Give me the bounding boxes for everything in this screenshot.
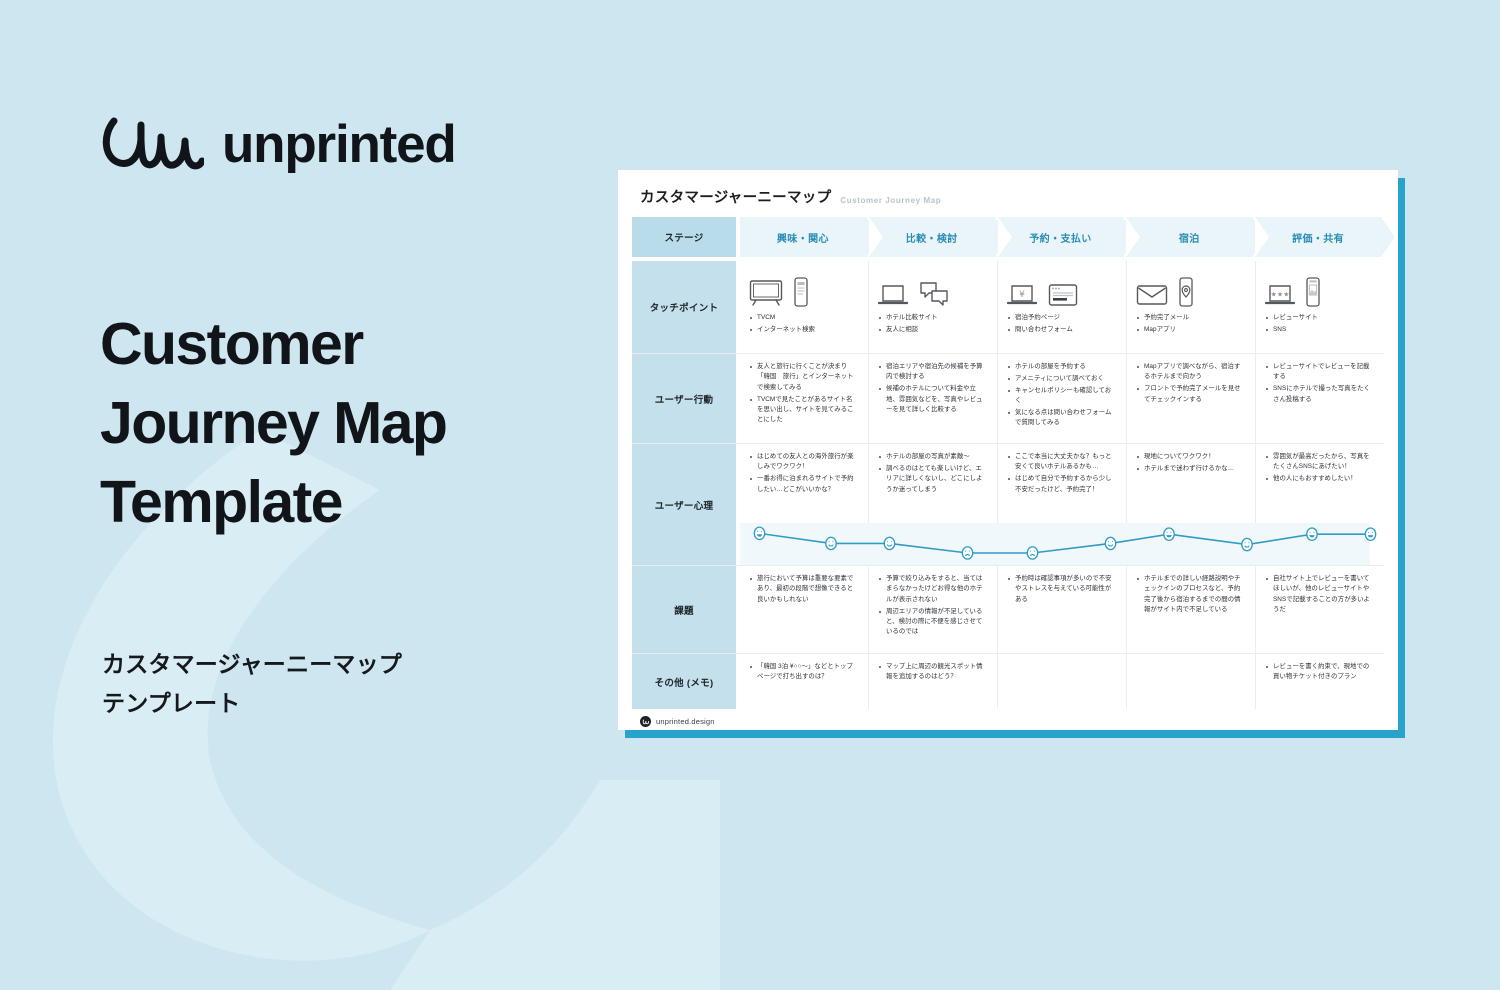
- stage-label: 予約・支払い: [1029, 230, 1091, 245]
- list-item: 気になる点は問い合わせフォームで質問してみる: [1007, 408, 1117, 429]
- issue-cell-1[interactable]: 旅行において予算は重要な要素であり、最初の段階で想像できると良いかもしれない: [740, 566, 869, 653]
- emotion-face-neutral: [884, 537, 894, 549]
- memo-cells: 「韓国 3泊 ¥○○〜」などとトップページで打ち出すのは？ マップ上に周辺の観光…: [740, 654, 1384, 709]
- behavior-list: レビューサイトでレビューを記載する SNSにホテルで撮った写真をたくさん投稿する: [1265, 362, 1375, 405]
- list-item: 調べるのはとても楽しいけど、エリアに詳しくないし、どこにしようか迷ってしまう: [878, 464, 988, 495]
- svg-text:¥: ¥: [1019, 290, 1025, 300]
- list-item: 一番お得に泊まれるサイトで予約したい…どこがいいかな？: [749, 474, 859, 495]
- card-footer: unprinted.design: [632, 709, 1384, 727]
- psychology-list: ホテルの部屋の写真が素敵〜 調べるのはとても楽しいけど、エリアに詳しくないし、ど…: [878, 452, 988, 497]
- tv-icon: [749, 279, 783, 307]
- list-item: 「韓国 3泊 ¥○○〜」などとトップページで打ち出すのは？: [749, 662, 859, 683]
- touchpoint-row: タッチポイント: [632, 261, 1384, 353]
- touchpoint-cells: TVCM インターネット検索: [740, 261, 1384, 353]
- emotion-curve-chart: [740, 523, 1390, 565]
- list-item: 予約時は確認事項が多いので不安やストレスを与えている可能性がある: [1007, 574, 1117, 605]
- page-subtitle: カスタマージャーニーマップ テンプレート: [102, 645, 532, 722]
- unprinted-script-logo-icon: [100, 113, 204, 175]
- memo-cell-2[interactable]: マップ上に周辺の観光スポット情報を追加するのはどう？: [869, 654, 998, 709]
- laptop-yen-icon: ¥: [1007, 283, 1037, 307]
- issue-cell-3[interactable]: 予約時は確認事項が多いので不安やストレスを与えている可能性がある: [998, 566, 1127, 653]
- list-item: インターネット検索: [749, 325, 859, 335]
- stage-header-5[interactable]: 評価・共有: [1255, 217, 1381, 257]
- list-item: ホテル比較サイト: [878, 313, 988, 323]
- list-item: 問い合わせフォーム: [1007, 325, 1117, 335]
- memo-cell-1[interactable]: 「韓国 3泊 ¥○○〜」などとトップページで打ち出すのは？: [740, 654, 869, 709]
- memo-row: その他 (メモ) 「韓国 3泊 ¥○○〜」などとトップページで打ち出すのは？ マ…: [632, 653, 1384, 709]
- row-label-issue: 課題: [632, 566, 736, 653]
- touchpoint-list: TVCM インターネット検索: [749, 313, 859, 335]
- speech-bubbles-icon: [919, 281, 949, 307]
- list-item: 予約完了メール: [1136, 313, 1246, 323]
- emotion-face-neutral: [826, 537, 836, 549]
- touchpoint-list: レビューサイト SNS: [1265, 313, 1375, 335]
- psychology-list: 雰囲気が最高だったから、写真をたくさんSNSにあげたい！ 他の人にもおすすめした…: [1265, 452, 1375, 486]
- svg-text:★★★: ★★★: [1271, 291, 1290, 299]
- smartphone-map-pin-icon: [1179, 277, 1193, 307]
- card-header: カスタマージャーニーマップ Customer Journey Map: [632, 186, 1384, 207]
- touchpoint-list: 予約完了メール Mapアプリ: [1136, 313, 1246, 335]
- stage-header-3[interactable]: 予約・支払い: [998, 217, 1124, 257]
- page-title: Customer Journey Map Template: [100, 305, 570, 542]
- issue-cell-2[interactable]: 予算で絞り込みをすると、当てはまらなかったけどお得な他のホテルが表示されない 周…: [869, 566, 998, 653]
- emotion-face-happy: [1307, 528, 1317, 540]
- row-label-stage: ステージ: [632, 217, 736, 257]
- list-item: フロントで予約完了メールを見せてチェックインする: [1136, 384, 1246, 405]
- memo-cell-3[interactable]: [998, 654, 1127, 709]
- list-item: 友人に相談: [878, 325, 988, 335]
- web-form-icon: [1048, 283, 1078, 307]
- behavior-list: Mapアプリで調べながら、宿泊するホテルまで向かう フロントで予約完了メールを見…: [1136, 362, 1246, 405]
- emotion-face-sad: [962, 547, 972, 559]
- memo-list: 「韓国 3泊 ¥○○〜」などとトップページで打ち出すのは？: [749, 662, 859, 683]
- touchpoint-cell-1[interactable]: TVCM インターネット検索: [740, 261, 869, 353]
- journey-grid: ステージ 興味・関心 比較・検討 予約・支払い 宿泊 評価・共有 タッチポイント: [632, 217, 1384, 709]
- behavior-list: ホテルの部屋を予約する アメニティについて調べておく キャンセルポリシーも確認し…: [1007, 362, 1117, 429]
- touchpoint-list: ホテル比較サイト 友人に相談: [878, 313, 988, 335]
- list-item: ここで本当に大丈夫かな？もっと安くて良いホテルあるかも…: [1007, 452, 1117, 473]
- list-item: 旅行において予算は重要な要素であり、最初の段階で想像できると良いかもしれない: [749, 574, 859, 605]
- issue-list: 旅行において予算は重要な要素であり、最初の段階で想像できると良いかもしれない: [749, 574, 859, 605]
- behavior-cell-5[interactable]: レビューサイトでレビューを記載する SNSにホテルで撮った写真をたくさん投稿する: [1256, 354, 1384, 443]
- row-label-psychology: ユーザー心理: [632, 444, 736, 565]
- list-item: はじめての友人との海外旅行が楽しみでワクワク！: [749, 452, 859, 473]
- touchpoint-icons: ★★★: [1265, 269, 1375, 307]
- list-item: 候補のホテルについて料金や立地、雰囲気などを、写真やレビューを見て詳しく比較する: [878, 384, 988, 415]
- left-hero-panel: unprinted Customer Journey Map Template …: [100, 0, 580, 900]
- list-item: 宿泊予約ページ: [1007, 313, 1117, 323]
- list-item: TVCM: [749, 313, 859, 323]
- stage-headers: 興味・関心 比較・検討 予約・支払い 宿泊 評価・共有: [740, 217, 1384, 257]
- behavior-list: 友人と旅行に行くことが決まり「韓国 旅行」とインターネットで検索してみる TVC…: [749, 362, 859, 426]
- psychology-list: 現地についてワクワク！ ホテルまで迷わず行けるかな…: [1136, 452, 1246, 476]
- touchpoint-cell-5[interactable]: ★★★ レビューサイト SNS: [1256, 261, 1384, 353]
- footer-text: unprinted.design: [656, 717, 715, 726]
- stage-label: 宿泊: [1179, 230, 1200, 245]
- row-label-memo: その他 (メモ): [632, 654, 736, 709]
- behavior-cell-1[interactable]: 友人と旅行に行くことが決まり「韓国 旅行」とインターネットで検索してみる TVC…: [740, 354, 869, 443]
- issue-list: 自社サイト上でレビューを書いてほしいが、他のレビューサイトやSNSで記載すること…: [1265, 574, 1375, 616]
- list-item: ホテルまでの詳しい経路説明やチェックインのプロセスなど、予約完了後から宿泊するま…: [1136, 574, 1246, 616]
- list-item: 他の人にもおすすめしたい！: [1265, 474, 1375, 484]
- touchpoint-list: 宿泊予約ページ 問い合わせフォーム: [1007, 313, 1117, 335]
- list-item: レビューサイト: [1265, 313, 1375, 323]
- stage-label: 比較・検討: [906, 230, 958, 245]
- list-item: 予算で絞り込みをすると、当てはまらなかったけどお得な他のホテルが表示されない: [878, 574, 988, 605]
- smartphone-article-icon: [794, 277, 808, 307]
- card-title: カスタマージャーニーマップ: [640, 186, 831, 207]
- issue-cell-4[interactable]: ホテルまでの詳しい経路説明やチェックインのプロセスなど、予約完了後から宿泊するま…: [1127, 566, 1256, 653]
- list-item: ホテルの部屋の写真が素敵〜: [878, 452, 988, 462]
- list-item: ホテルまで迷わず行けるかな…: [1136, 464, 1246, 474]
- row-label-touchpoint: タッチポイント: [632, 261, 736, 353]
- list-item: Mapアプリ: [1136, 325, 1246, 335]
- emotion-face-neutral: [1105, 537, 1115, 549]
- list-item: 雰囲気が最高だったから、写真をたくさんSNSにあげたい！: [1265, 452, 1375, 473]
- memo-cell-5[interactable]: レビューを書く約束で、現地での買い物チケット付きのプラン: [1256, 654, 1384, 709]
- emotion-face-happy: [1365, 528, 1375, 540]
- list-item: SNS: [1265, 325, 1375, 335]
- behavior-cells: 友人と旅行に行くことが決まり「韓国 旅行」とインターネットで検索してみる TVC…: [740, 354, 1384, 443]
- journey-map-card: カスタマージャーニーマップ Customer Journey Map ステージ …: [618, 170, 1398, 730]
- laptop-icon: [878, 283, 908, 307]
- behavior-cell-2[interactable]: 宿泊エリアや宿泊先の候補を予算内で検討する 候補のホテルについて料金や立地、雰囲…: [869, 354, 998, 443]
- smartphone-photo-icon: [1306, 277, 1320, 307]
- emotion-face-happy: [754, 527, 764, 539]
- issue-list: ホテルまでの詳しい経路説明やチェックインのプロセスなど、予約完了後から宿泊するま…: [1136, 574, 1246, 616]
- list-item: 友人と旅行に行くことが決まり「韓国 旅行」とインターネットで検索してみる: [749, 362, 859, 393]
- brand-name: unprinted: [222, 118, 456, 171]
- list-item: ホテルの部屋を予約する: [1007, 362, 1117, 372]
- behavior-cell-3[interactable]: ホテルの部屋を予約する アメニティについて調べておく キャンセルポリシーも確認し…: [998, 354, 1127, 443]
- issue-cells: 旅行において予算は重要な要素であり、最初の段階で想像できると良いかもしれない 予…: [740, 566, 1384, 653]
- list-item: 自社サイト上でレビューを書いてほしいが、他のレビューサイトやSNSで記載すること…: [1265, 574, 1375, 616]
- touchpoint-icons: [1136, 269, 1246, 307]
- stage-header-4[interactable]: 宿泊: [1126, 217, 1252, 257]
- issue-list: 予算で絞り込みをすると、当てはまらなかったけどお得な他のホテルが表示されない 周…: [878, 574, 988, 638]
- list-item: マップ上に周辺の観光スポット情報を追加するのはどう？: [878, 662, 988, 683]
- stage-header-2[interactable]: 比較・検討: [869, 217, 995, 257]
- memo-cell-4[interactable]: [1127, 654, 1256, 709]
- laptop-review-icon: ★★★: [1265, 283, 1295, 307]
- touchpoint-cell-2[interactable]: ホテル比較サイト 友人に相談: [869, 261, 998, 353]
- list-item: はじめて自分で予約するから少し不安だったけど、予約完了！: [1007, 474, 1117, 495]
- issue-list: 予約時は確認事項が多いので不安やストレスを与えている可能性がある: [1007, 574, 1117, 605]
- behavior-row: ユーザー行動 友人と旅行に行くことが決まり「韓国 旅行」とインターネットで検索し…: [632, 353, 1384, 443]
- list-item: 現地についてワクワク！: [1136, 452, 1246, 462]
- list-item: 宿泊エリアや宿泊先の候補を予算内で検討する: [878, 362, 988, 383]
- stage-header-1[interactable]: 興味・関心: [740, 217, 866, 257]
- list-item: 周辺エリアの情報が不足していると、検討の際に不便を感じさせているのでは: [878, 607, 988, 638]
- list-item: レビューサイトでレビューを記載する: [1265, 362, 1375, 383]
- touchpoint-cell-4[interactable]: 予約完了メール Mapアプリ: [1127, 261, 1256, 353]
- touchpoint-icons: [878, 269, 988, 307]
- stage-label: 評価・共有: [1292, 230, 1344, 245]
- list-item: アメニティについて調べておく: [1007, 374, 1117, 384]
- emotion-face-sad: [1027, 547, 1037, 559]
- unprinted-badge-icon: [640, 716, 651, 727]
- emotion-face-happy: [1164, 528, 1174, 540]
- brand-lockup: unprinted: [100, 113, 456, 175]
- touchpoint-icons: [749, 269, 859, 307]
- memo-list: マップ上に周辺の観光スポット情報を追加するのはどう？: [878, 662, 988, 683]
- psychology-list: ここで本当に大丈夫かな？もっと安くて良いホテルあるかも… はじめて自分で予約する…: [1007, 452, 1117, 497]
- psychology-row: ユーザー心理 はじめての友人との海外旅行が楽しみでワクワク！ 一番お得に泊まれる…: [632, 443, 1384, 565]
- list-item: レビューを書く約束で、現地での買い物チケット付きのプラン: [1265, 662, 1375, 683]
- envelope-icon: [1136, 283, 1168, 307]
- row-label-behavior: ユーザー行動: [632, 354, 736, 443]
- psychology-list: はじめての友人との海外旅行が楽しみでワクワク！ 一番お得に泊まれるサイトで予約し…: [749, 452, 859, 497]
- touchpoint-cell-3[interactable]: ¥ 宿泊予約ページ 問い合わせフォーム: [998, 261, 1127, 353]
- list-item: TVCMで見たことがあるサイト名を思い出し、サイトを見てみることにした: [749, 395, 859, 426]
- card-title-english: Customer Journey Map: [840, 196, 941, 207]
- behavior-list: 宿泊エリアや宿泊先の候補を予算内で検討する 候補のホテルについて料金や立地、雰囲…: [878, 362, 988, 415]
- list-item: キャンセルポリシーも確認しておく: [1007, 386, 1117, 407]
- memo-list: レビューを書く約束で、現地での買い物チケット付きのプラン: [1265, 662, 1375, 683]
- emotion-face-neutral: [1242, 538, 1252, 550]
- list-item: Mapアプリで調べながら、宿泊するホテルまで向かう: [1136, 362, 1246, 383]
- issue-cell-5[interactable]: 自社サイト上でレビューを書いてほしいが、他のレビューサイトやSNSで記載すること…: [1256, 566, 1384, 653]
- list-item: SNSにホテルで撮った写真をたくさん投稿する: [1265, 384, 1375, 405]
- touchpoint-icons: ¥: [1007, 269, 1117, 307]
- stage-label: 興味・関心: [777, 230, 829, 245]
- issue-row: 課題 旅行において予算は重要な要素であり、最初の段階で想像できると良いかもしれな…: [632, 565, 1384, 653]
- behavior-cell-4[interactable]: Mapアプリで調べながら、宿泊するホテルまで向かう フロントで予約完了メールを見…: [1127, 354, 1256, 443]
- stage-row: ステージ 興味・関心 比較・検討 予約・支払い 宿泊 評価・共有: [632, 217, 1384, 257]
